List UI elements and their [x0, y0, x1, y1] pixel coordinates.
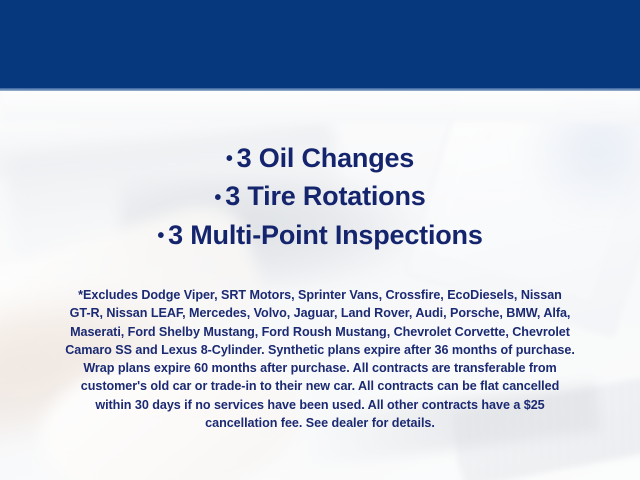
extracare-package-ad: ExtraCare Package* •3 Oil Changes •3 Tir…	[0, 0, 640, 480]
bullet-dot-icon: •	[157, 225, 164, 247]
bullet-dot-icon: •	[226, 148, 233, 170]
list-item-label: 3 Multi-Point Inspections	[168, 220, 483, 250]
header-banner	[0, 0, 640, 88]
disclaimer-line: Camaro SS and Lexus 8-Cylinder. Syntheti…	[28, 341, 612, 359]
disclaimer-line: cancellation fee. See dealer for details…	[28, 414, 612, 432]
disclaimer-line: within 30 days if no services have been …	[28, 396, 612, 414]
list-item: •3 Oil Changes	[0, 140, 640, 178]
disclaimer-line: Wrap plans expire 60 months after purcha…	[28, 359, 612, 377]
bullet-dot-icon: •	[214, 187, 221, 209]
list-item: •3 Tire Rotations	[0, 178, 640, 216]
disclaimer-line: Maserati, Ford Shelby Mustang, Ford Rous…	[28, 323, 612, 341]
benefits-list: •3 Oil Changes •3 Tire Rotations •3 Mult…	[0, 140, 640, 255]
list-item-label: 3 Oil Changes	[237, 143, 414, 173]
disclaimer-line: customer's old car or trade-in to their …	[28, 377, 612, 395]
header-banner-underline	[0, 88, 640, 91]
list-item: •3 Multi-Point Inspections	[0, 217, 640, 255]
disclaimer-line: GT-R, Nissan LEAF, Mercedes, Volvo, Jagu…	[28, 304, 612, 322]
disclaimer-line: *Excludes Dodge Viper, SRT Motors, Sprin…	[28, 286, 612, 304]
disclaimer-text: *Excludes Dodge Viper, SRT Motors, Sprin…	[28, 286, 612, 432]
list-item-label: 3 Tire Rotations	[225, 181, 425, 211]
